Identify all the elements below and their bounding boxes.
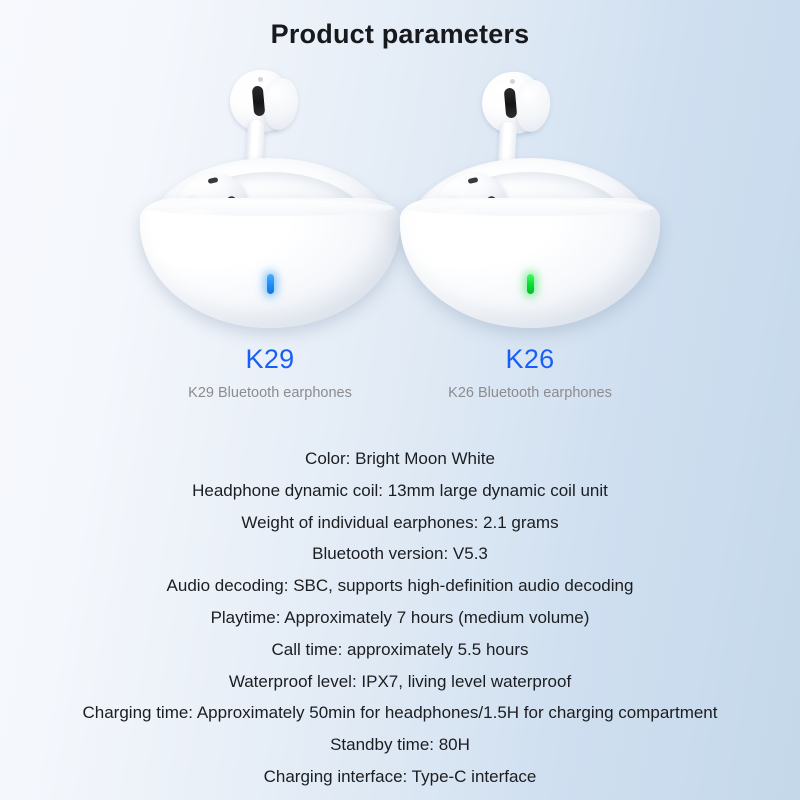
charging-case-body [400,198,660,328]
specification-list: Color: Bright Moon White Headphone dynam… [0,443,800,793]
earbud-mic-dot [510,79,515,84]
spec-item-charging-time: Charging time: Approximately 50min for h… [0,697,800,729]
product-subtitle-k26: K26 Bluetooth earphones [400,385,660,401]
product-gallery: K29 K29 Bluetooth earphones [0,70,800,410]
product-subtitle-k29: K29 Bluetooth earphones [140,385,400,401]
spec-item-waterproof: Waterproof level: IPX7, living level wat… [0,666,800,698]
page-title: Product parameters [0,19,800,50]
spec-item-standby-time: Standby time: 80H [0,729,800,761]
spec-item-dynamic-coil: Headphone dynamic coil: 13mm large dynam… [0,475,800,507]
charging-case-body [140,198,400,328]
product-name-k29: K29 [140,344,400,375]
status-led-indicator [527,274,534,294]
product-image-k29 [140,70,400,328]
spec-item-call-time: Call time: approximately 5.5 hours [0,634,800,666]
product-name-k26: K26 [400,344,660,375]
product-card-k26[interactable]: K26 K26 Bluetooth earphones [400,70,660,410]
status-led-indicator [267,274,274,294]
earbud-mic-dot [258,77,263,82]
spec-item-charging-port: Charging interface: Type-C interface [0,761,800,793]
spec-item-bluetooth: Bluetooth version: V5.3 [0,538,800,570]
spec-item-audio-decoding: Audio decoding: SBC, supports high-defin… [0,570,800,602]
spec-item-playtime: Playtime: Approximately 7 hours (medium … [0,602,800,634]
spec-item-weight: Weight of individual earphones: 2.1 gram… [0,507,800,539]
product-card-k29[interactable]: K29 K29 Bluetooth earphones [140,70,400,410]
spec-item-color: Color: Bright Moon White [0,443,800,475]
product-image-k26 [400,70,660,328]
